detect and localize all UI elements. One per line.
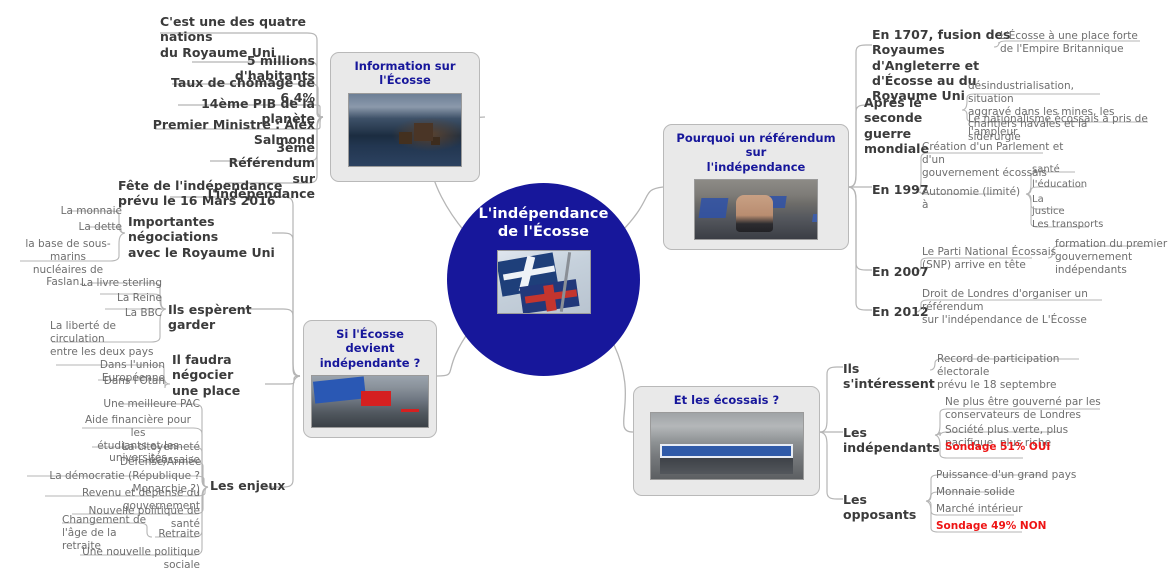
garder-child-1[interactable]: La Reine: [88, 292, 162, 305]
garder-child-3[interactable]: La liberté de circulation entre les deux…: [50, 320, 162, 358]
scots-item-0[interactable]: Ils s'intéressent: [843, 361, 943, 392]
box-title: Pourquoi un référendum sur l'indépendanc…: [673, 131, 839, 174]
if-item-enjeux[interactable]: Les enjeux: [210, 478, 290, 493]
garder-child-0[interactable]: La livre sterling: [78, 277, 162, 290]
why-0-child-0[interactable]: L'Écosse à une place forte de l'Empire B…: [1000, 30, 1140, 56]
scots-2-poll[interactable]: Sondage 49% NON: [936, 520, 1066, 533]
scots-item-1[interactable]: Les indépendants: [843, 425, 953, 456]
scots-0-child-0[interactable]: Record de participation électorale prévu…: [937, 353, 1087, 391]
node-et-les-ecossais[interactable]: Et les écossais ?: [633, 386, 820, 496]
18-sept-2014-signs-photo: [650, 412, 804, 480]
if-item-negociations[interactable]: Importantes négociations avec le Royaume…: [128, 214, 288, 260]
node-information-sur-lecosse[interactable]: Information sur l'Écosse: [330, 52, 480, 182]
node-si-lecosse-devient-independante[interactable]: Si l'Écosse devient indépendante ?: [303, 320, 437, 438]
if-item-fete[interactable]: Fête de l'indépendance prévu le 16 Mars …: [118, 178, 288, 209]
scots-item-2[interactable]: Les opposants: [843, 492, 943, 523]
autonomie-child-3[interactable]: Les transports: [1032, 219, 1112, 231]
scots-2-child-1[interactable]: Monnaie solide: [936, 486, 1046, 499]
if-item-negocier[interactable]: Il faudra négocier une place: [172, 352, 288, 398]
scots-1-poll[interactable]: Sondage 51% OUI: [945, 441, 1075, 454]
yes-no-campaign-photo: [311, 375, 429, 428]
node-pourquoi-un-referendum[interactable]: Pourquoi un référendum sur l'indépendanc…: [663, 124, 849, 250]
enjeux-child-7-retraite[interactable]: Retraite: [152, 528, 200, 541]
box-title: Si l'Écosse devient indépendante ?: [313, 327, 427, 370]
scots-2-child-0[interactable]: Puissance d'un grand pays: [936, 469, 1086, 482]
why-2-child-1[interactable]: Autonomie (limité) à: [922, 186, 1027, 212]
enjeux-child-0[interactable]: Une meilleure PAC: [90, 398, 200, 411]
central-topic[interactable]: L'indépendance de l'Écosse: [447, 183, 640, 376]
scottish-flag-union-jack-photo: [497, 250, 591, 314]
why-3-child-0[interactable]: Le Parti National Écossais (SNP) arrive …: [922, 246, 1057, 272]
negociations-child-0[interactable]: La monnaie: [40, 205, 122, 218]
scots-2-child-2[interactable]: Marché intérieur: [936, 503, 1046, 516]
negociations-child-1[interactable]: La dette: [48, 221, 122, 234]
garder-child-2[interactable]: La BBC: [95, 307, 162, 320]
autonomie-child-1[interactable]: l'éducation: [1032, 179, 1092, 191]
why-4-child-0[interactable]: Droit de Londres d'organiser un référend…: [922, 288, 1117, 326]
yes-rally-crowd-photo: [694, 179, 818, 240]
eilean-donan-castle-photo: [348, 93, 462, 167]
why-1-child-1[interactable]: Le nationalisme écossais à pris de l'amp…: [968, 113, 1150, 139]
enjeux-child-3[interactable]: Défense/Armée: [120, 456, 200, 469]
scots-1-child-0[interactable]: Ne plus être gouverné par les conservate…: [945, 396, 1105, 422]
autonomie-child-0[interactable]: santé: [1032, 164, 1092, 176]
box-title: Et les écossais ?: [674, 393, 779, 407]
box-title: Information sur l'Écosse: [340, 59, 470, 88]
central-topic-title: L'indépendance de l'Écosse: [478, 205, 608, 241]
mindmap-canvas: L'indépendance de l'Écosse Information s…: [0, 0, 1170, 579]
autonomie-child-2[interactable]: La justice: [1032, 194, 1092, 218]
negocier-child-1[interactable]: Dans l'Otan: [94, 375, 165, 388]
why-3-grandchild-0[interactable]: formation du premier gouvernement indépe…: [1055, 238, 1170, 276]
enjeux-child-8[interactable]: Une nouvelle politique sociale: [70, 546, 200, 572]
if-item-garder[interactable]: Ils espèrent garder: [168, 302, 288, 333]
